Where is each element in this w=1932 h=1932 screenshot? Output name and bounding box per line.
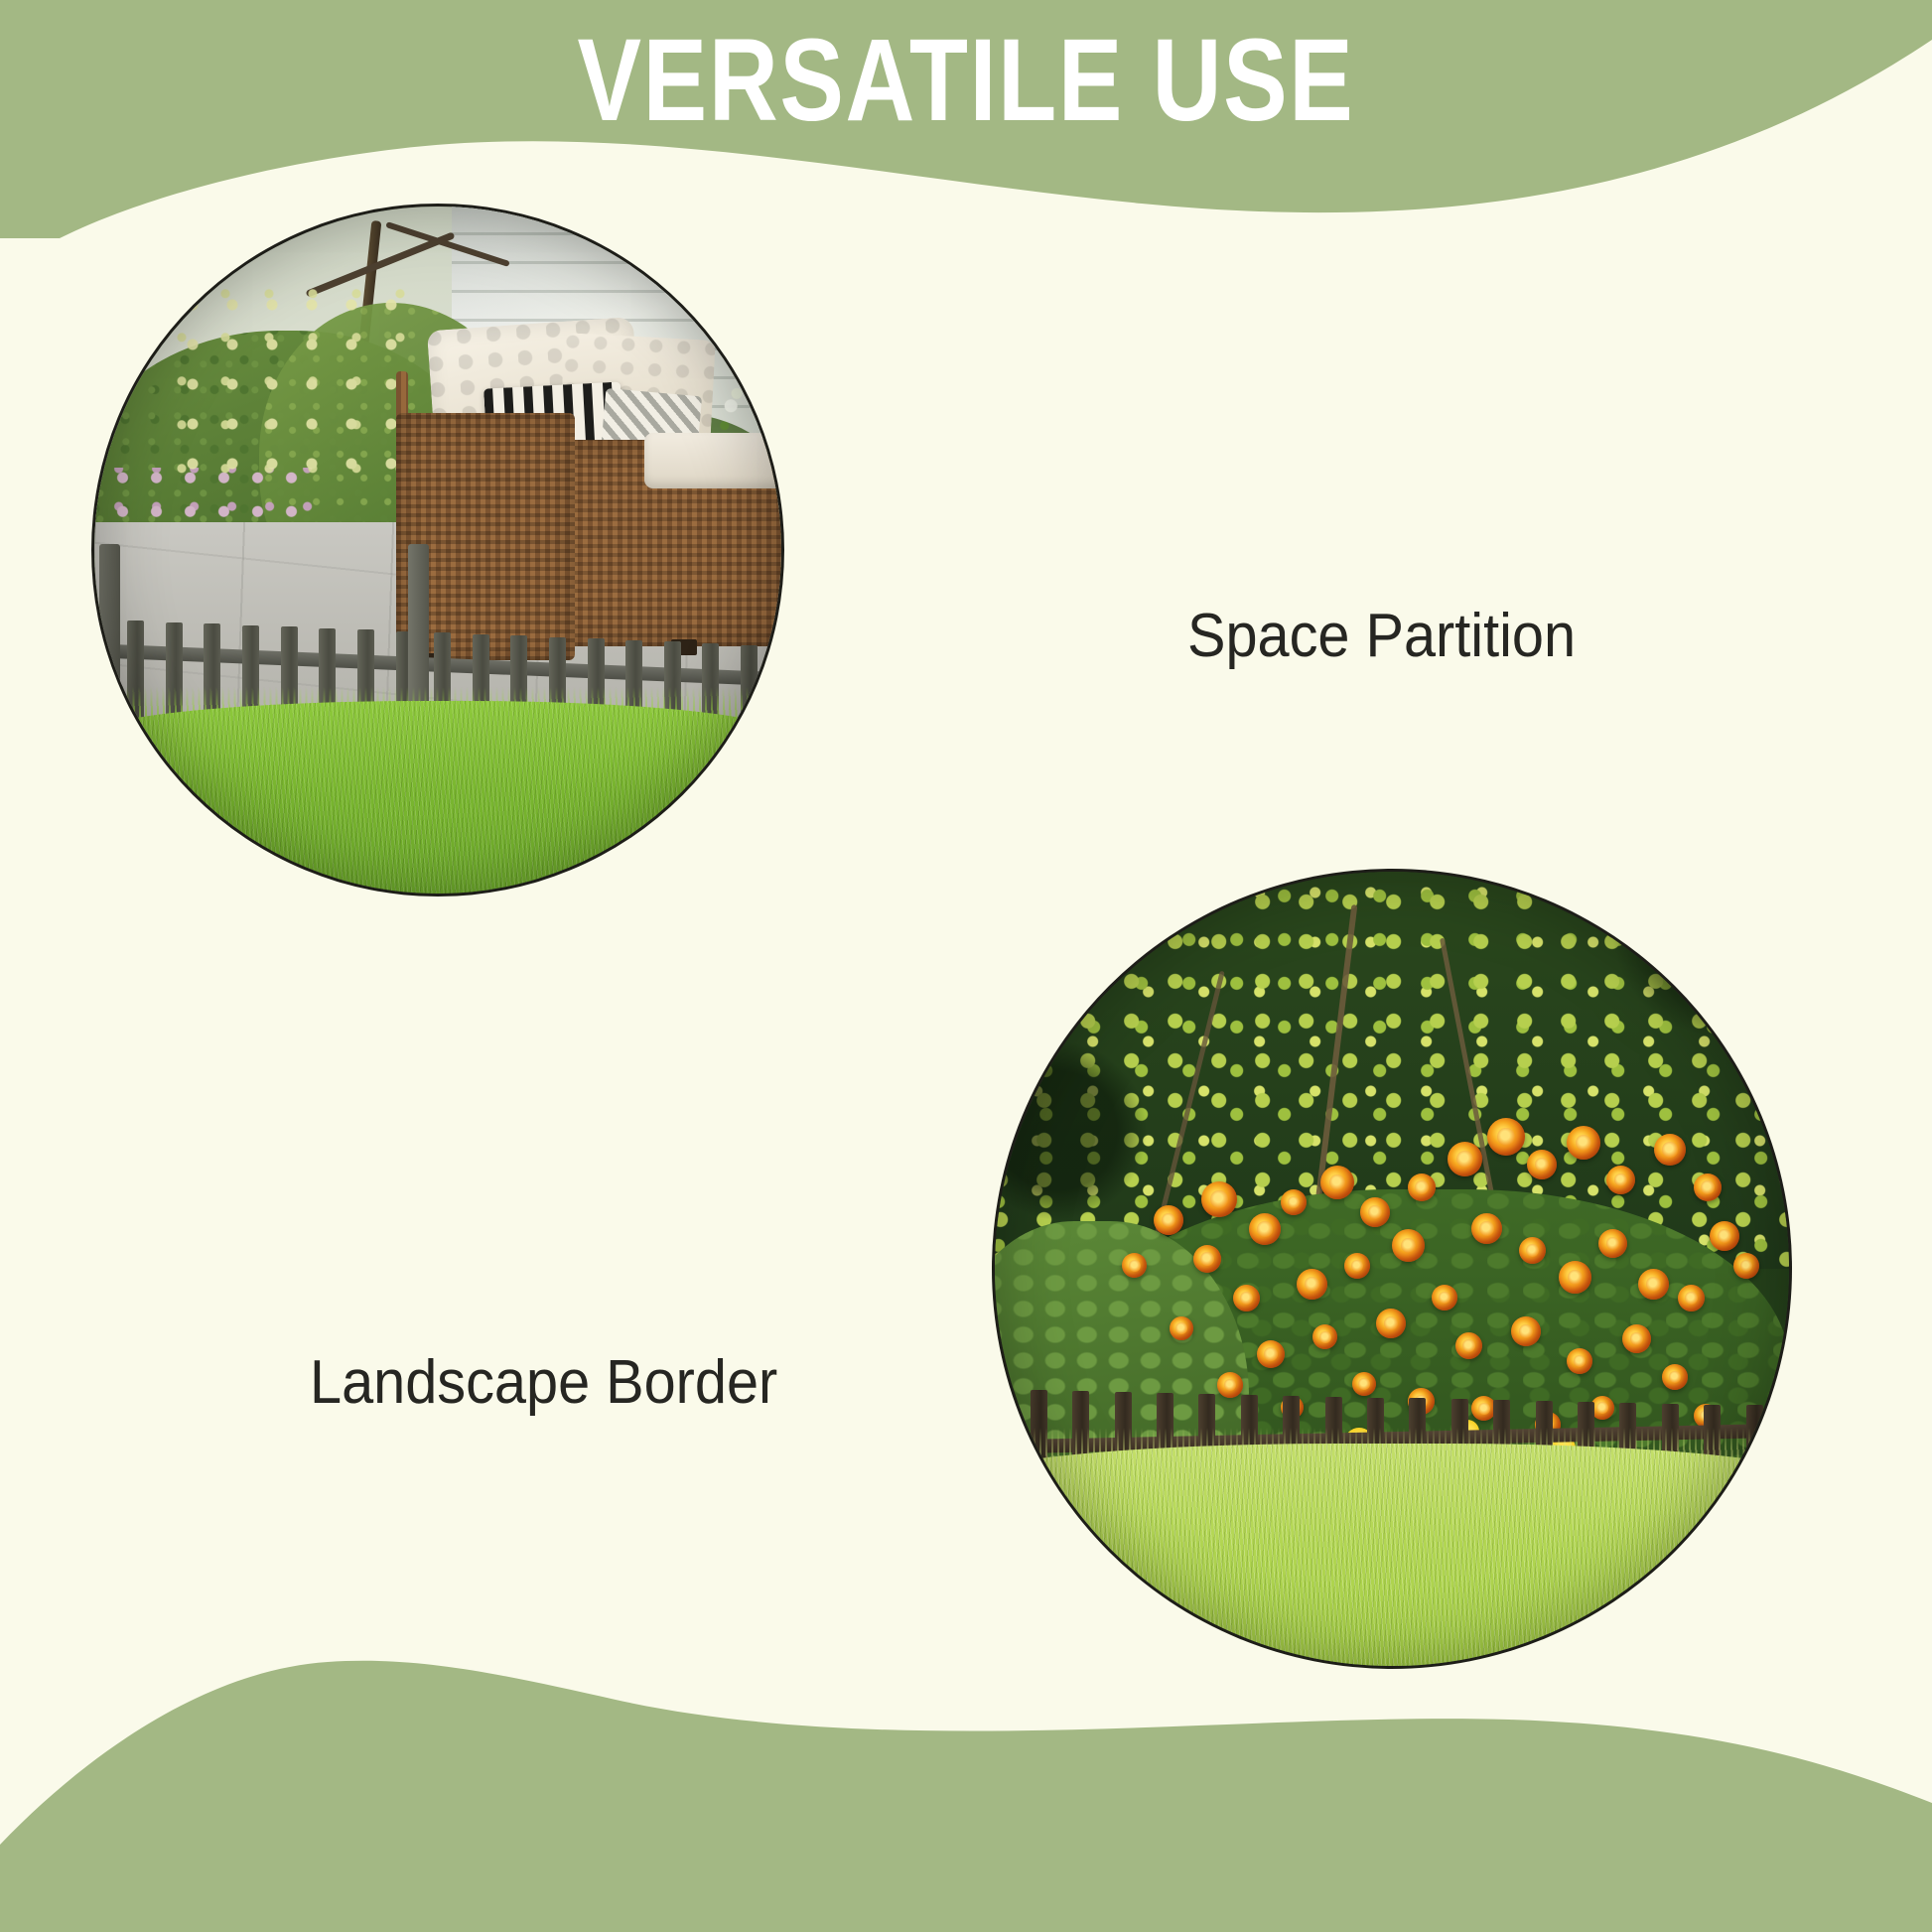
caption-landscape-border: Landscape Border (310, 1352, 777, 1414)
rose-blossom (1312, 1324, 1337, 1349)
photo-space-partition (94, 207, 781, 894)
rose-blossom (1598, 1229, 1627, 1258)
rose-blossom (1432, 1285, 1457, 1311)
bottom-banner-shape (0, 1661, 1932, 1932)
rose-blossom (1733, 1253, 1759, 1279)
lawn-grass (995, 1444, 1789, 1666)
rose-blossom (1408, 1173, 1436, 1201)
rose-blossom (1448, 1142, 1482, 1176)
rose-blossom (1249, 1213, 1281, 1245)
rose-blossom (1122, 1253, 1147, 1278)
poster-canvas: VERSATILE USE (0, 0, 1932, 1932)
rose-blossom (1471, 1213, 1502, 1244)
rose-blossom (1487, 1118, 1525, 1156)
rose-blossom (1193, 1245, 1221, 1273)
page-title: VERSATILE USE (174, 22, 1758, 139)
rose-blossom (1559, 1261, 1591, 1294)
rose-blossom (1320, 1166, 1354, 1199)
yellow-blossoms (177, 289, 410, 482)
patio-scene (94, 207, 781, 894)
rose-blossom (1567, 1348, 1592, 1374)
rose-blossom (1376, 1309, 1406, 1338)
rose-blossom (1360, 1197, 1390, 1227)
rose-blossom (1519, 1237, 1546, 1264)
rose-blossom (1154, 1205, 1183, 1235)
caption-space-partition: Space Partition (1187, 606, 1576, 667)
rose-blossom (1622, 1324, 1651, 1353)
rose-blossom (1257, 1340, 1285, 1368)
rose-blossom (1638, 1269, 1669, 1300)
rose-blossom (1710, 1221, 1739, 1251)
rose-blossom (1201, 1181, 1237, 1217)
rose-blossom (1281, 1189, 1307, 1215)
rose-blossom (1606, 1166, 1635, 1194)
rose-blossom (1694, 1173, 1722, 1201)
rose-blossom (1527, 1150, 1557, 1179)
rose-blossom (1567, 1126, 1600, 1160)
rose-blossom (1170, 1316, 1193, 1340)
lawn-grass (94, 701, 781, 894)
rose-blossom (1344, 1253, 1370, 1279)
bottom-banner (0, 1634, 1932, 1932)
rose-blossom (1455, 1332, 1482, 1359)
rose-blossom (1233, 1285, 1260, 1311)
rose-blossom (1678, 1285, 1705, 1311)
rose-blossom (1392, 1229, 1425, 1262)
rose-blossom (1654, 1134, 1686, 1166)
rose-garden-scene (995, 872, 1789, 1666)
rose-blossom (1511, 1316, 1541, 1346)
rose-blossom (1297, 1269, 1327, 1300)
sofa-seat-cushion (644, 433, 781, 487)
photo-landscape-border (995, 872, 1789, 1666)
